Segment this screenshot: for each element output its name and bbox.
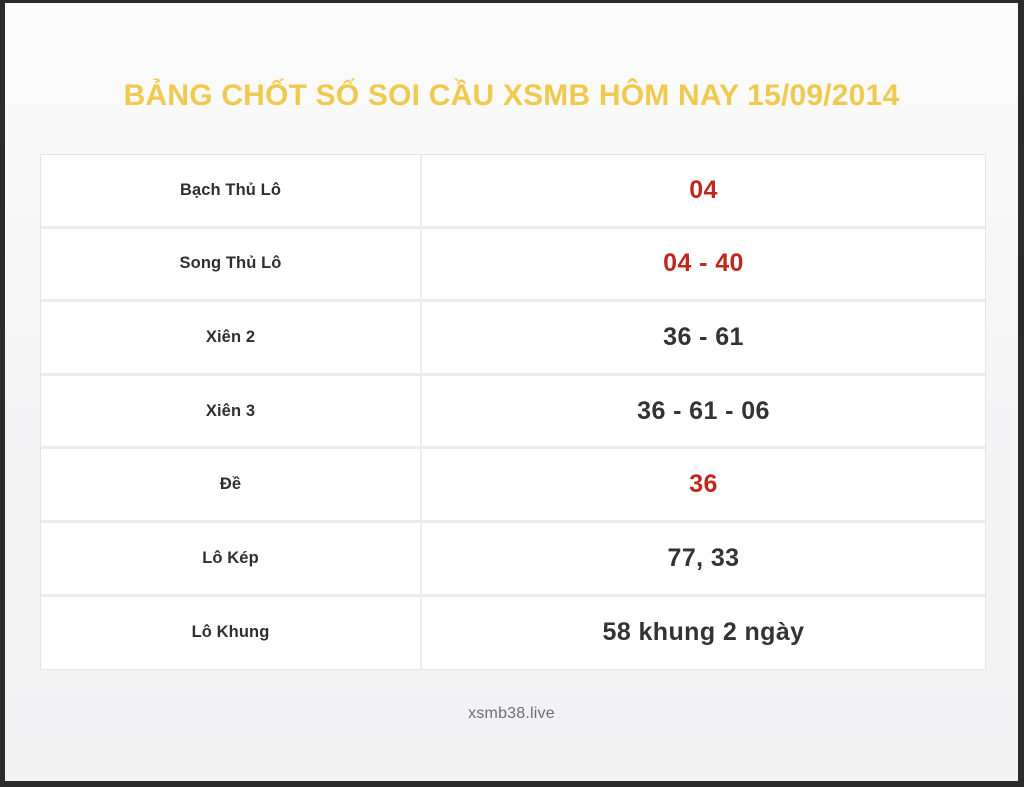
row-value: 36 - 61 [422,302,985,373]
row-label: Lô Kép [41,523,422,594]
table-row: Xiên 236 - 61 [41,302,985,376]
table-row: Đề36 [41,449,985,523]
row-value: 36 - 61 - 06 [422,376,985,447]
prediction-table: Bạch Thủ Lô04Song Thủ Lô04 - 40Xiên 236 … [40,154,986,670]
row-label: Lô Khung [41,597,422,670]
row-value: 77, 33 [422,523,985,594]
footer-site-label: xsmb38.live [5,705,1018,723]
table-row: Bạch Thủ Lô04 [41,155,985,229]
row-label: Đề [41,449,422,520]
row-label: Song Thủ Lô [41,229,422,300]
row-value: 04 - 40 [422,229,985,300]
table-row: Lô Kép77, 33 [41,523,985,597]
row-value: 04 [422,155,985,226]
page-title: BẢNG CHỐT SỐ SOI CẦU XSMB HÔM NAY 15/09/… [5,79,1018,113]
row-label: Xiên 2 [41,302,422,373]
page-body: BẢNG CHỐT SỐ SOI CẦU XSMB HÔM NAY 15/09/… [5,3,1018,781]
table-row: Song Thủ Lô04 - 40 [41,229,985,303]
table-row: Lô Khung58 khung 2 ngày [41,597,985,671]
row-label: Xiên 3 [41,376,422,447]
screen-frame: BẢNG CHỐT SỐ SOI CẦU XSMB HÔM NAY 15/09/… [0,0,1024,787]
row-value: 36 [422,449,985,520]
row-label: Bạch Thủ Lô [41,155,422,226]
table-row: Xiên 336 - 61 - 06 [41,376,985,450]
row-value: 58 khung 2 ngày [422,597,985,670]
